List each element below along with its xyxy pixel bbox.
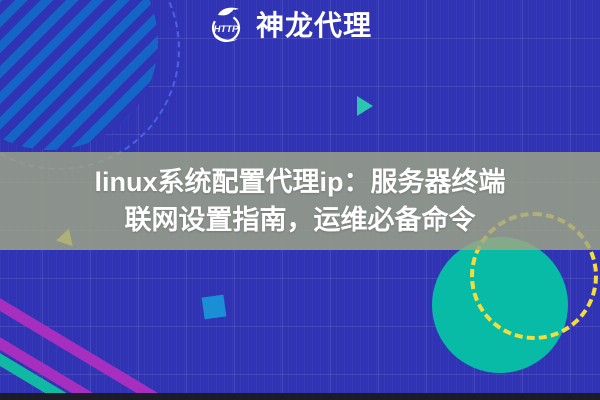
title-overlay-band: linux系统配置代理ip：服务器终端 联网设置指南，运维必备命令 (0, 152, 600, 250)
promo-banner: HTTP 神龙代理 linux系统配置代理ip：服务器终端 联网设置指南，运维必… (0, 0, 600, 400)
dragon-circle-logo-icon: HTTP (207, 6, 249, 46)
brand-name: 神龙代理 (256, 12, 372, 40)
page-title-line-1: linux系统配置代理ip：服务器终端 (95, 163, 506, 201)
svg-text:HTTP: HTTP (214, 24, 239, 35)
page-title-line-2: 联网设置指南，运维必备命令 (125, 201, 476, 239)
teal-play-triangle-icon (357, 96, 373, 116)
brand-logo: HTTP 神龙代理 (207, 6, 372, 46)
blue-square-shape (202, 295, 227, 320)
bottom-dark-strip (0, 393, 600, 400)
